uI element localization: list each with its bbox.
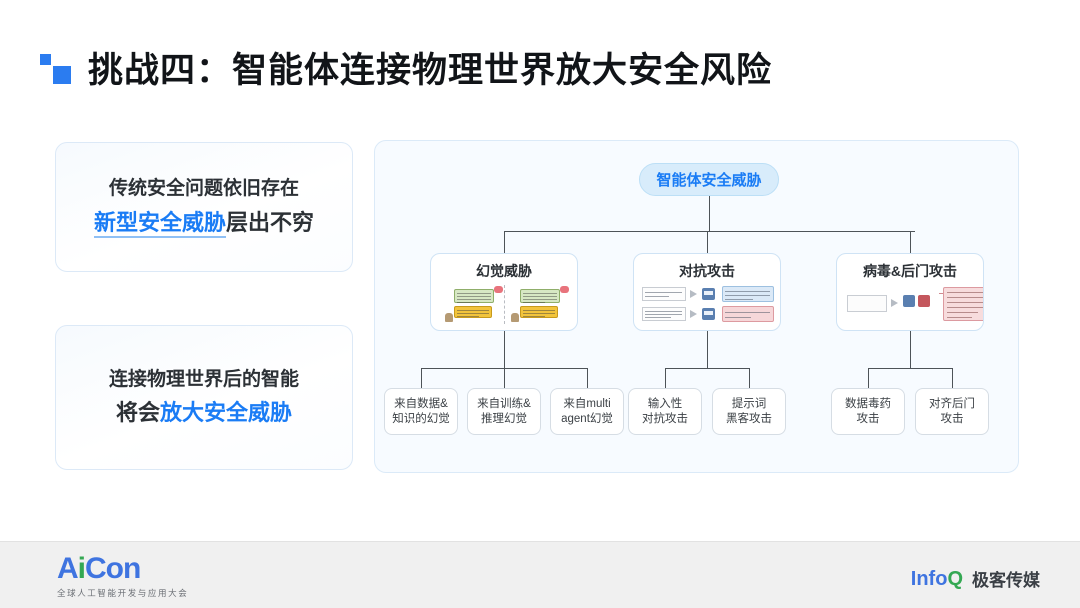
slide-root: 挑战四：智能体连接物理世界放大安全风险 传统安全问题依旧存在 新型安全威胁层出不… — [0, 0, 1080, 608]
leaf-node-data-poisoning-attack[interactable]: 数据毒药 攻击 — [831, 388, 905, 435]
connector-b1-leaf-3 — [587, 368, 588, 388]
leaf-line-2: 知识的幻觉 — [392, 412, 450, 427]
connector-b1-leaf-2 — [504, 368, 505, 388]
aicon-subtitle: 全球人工智能开发与应用大会 — [57, 587, 188, 599]
connector-branch-bus — [504, 231, 915, 232]
statement-card-1-highlight: 新型安全威胁 — [94, 210, 226, 238]
statement-card-2-highlight: 放大安全威胁 — [160, 400, 292, 425]
agent-robot-icon — [702, 288, 715, 300]
leaf-line-2: 攻击 — [857, 412, 880, 427]
threat-tree-diagram: 智能体安全威胁 幻觉威胁 — [374, 140, 1019, 473]
connector-b2-drop — [707, 331, 708, 368]
aicon-wordmark: AiCon — [57, 554, 188, 584]
leaf-line-2: agent幻觉 — [561, 412, 613, 427]
leaf-node-data-knowledge-hallucination[interactable]: 来自数据& 知识的幻觉 — [384, 388, 458, 435]
connector-root-drop — [709, 196, 710, 231]
backdoor-code-injection-thumbnail — [843, 285, 977, 325]
branch-card-virus-backdoor-title: 病毒&后门攻击 — [837, 261, 983, 281]
compromised-agent-icon — [918, 295, 930, 307]
connector-b3-bus — [868, 368, 952, 369]
connector-branch-2-drop — [707, 231, 708, 253]
statement-card-1: 传统安全问题依旧存在 新型安全威胁层出不穷 — [55, 142, 353, 272]
leaf-line-1: 输入性 — [648, 397, 683, 412]
branch-card-hallucination[interactable]: 幻觉威胁 — [430, 253, 578, 331]
slide-header: 挑战四：智能体连接物理世界放大安全风险 — [38, 42, 772, 93]
statement-card-2-line-1: 连接物理世界后的智能 — [109, 366, 299, 394]
branch-card-adversarial[interactable]: 对抗攻击 — [633, 253, 781, 331]
branch-card-hallucination-title: 幻觉威胁 — [431, 261, 577, 281]
prompt-box-icon — [847, 295, 887, 312]
connector-b2-leaf-2 — [749, 368, 750, 388]
response-box-error-icon — [722, 306, 774, 322]
diagram-root-node: 智能体安全威胁 — [639, 163, 779, 196]
leaf-node-input-adversarial-attack[interactable]: 输入性 对抗攻击 — [628, 388, 702, 435]
infoq-wordmark: InfoQ — [911, 569, 963, 589]
infoq-chinese-name: 极客传媒 — [972, 566, 1040, 591]
infoq-logo: InfoQ 极客传媒 — [911, 566, 1040, 591]
agent-pair-icon — [903, 294, 939, 312]
thumbnail-flow-row — [640, 306, 774, 323]
branch-card-virus-backdoor[interactable]: 病毒&后门攻击 — [836, 253, 984, 331]
alert-badge-icon — [494, 286, 503, 293]
leaf-line-1: 来自multi — [563, 397, 610, 412]
prompt-agent-response-thumbnail — [640, 285, 774, 325]
speech-bubble-green-icon — [454, 289, 494, 303]
statement-card-2-line-2: 将会放大安全威胁 — [116, 397, 292, 429]
connector-b3-drop — [910, 331, 911, 368]
aicon-letters-con: Con — [85, 552, 140, 585]
leaf-line-2: 攻击 — [941, 412, 964, 427]
leaf-node-training-inference-hallucination[interactable]: 来自训练& 推理幻觉 — [467, 388, 541, 435]
speech-bubble-green-icon — [520, 289, 560, 303]
aicon-letter-a: A — [57, 552, 78, 585]
leaf-line-1: 数据毒药 — [845, 397, 891, 412]
connector-branch-1-drop — [504, 231, 505, 253]
statement-card-1-line-2: 新型安全威胁层出不穷 — [94, 207, 314, 239]
user-avatar-icon — [445, 313, 453, 322]
statement-card-2-prefix: 将会 — [116, 400, 160, 425]
leaf-node-multi-agent-hallucination[interactable]: 来自multi agent幻觉 — [550, 388, 624, 435]
response-box-code-icon — [722, 286, 774, 302]
aicon-logo: AiCon 全球人工智能开发与应用大会 — [57, 554, 188, 599]
leaf-line-2: 推理幻觉 — [481, 412, 527, 427]
agent-robot-icon — [702, 308, 715, 320]
leaf-line-1: 提示词 — [732, 397, 767, 412]
connector-b2-bus — [665, 368, 749, 369]
connector-b1-drop — [504, 331, 505, 368]
two-blue-squares-icon — [38, 48, 74, 88]
thumbnail-chat-group-left — [445, 286, 505, 324]
connector-b3-leaf-2 — [952, 368, 953, 388]
slide-footer: AiCon 全球人工智能开发与应用大会 InfoQ 极客传媒 — [0, 541, 1080, 608]
leaf-line-1: 对齐后门 — [929, 397, 975, 412]
connector-branch-3-drop — [910, 231, 911, 253]
leaf-line-1: 来自数据& — [394, 397, 448, 412]
infoq-info: Info — [911, 568, 948, 590]
agent-robot-icon — [903, 295, 915, 307]
arrow-right-icon — [690, 290, 697, 298]
thumbnail-flow-row — [640, 286, 774, 303]
statement-card-2: 连接物理世界后的智能 将会放大安全威胁 — [55, 325, 353, 470]
speech-bubble-yellow-icon — [520, 306, 558, 318]
statement-card-1-line-1: 传统安全问题依旧存在 — [109, 175, 299, 203]
leaf-node-alignment-backdoor-attack[interactable]: 对齐后门 攻击 — [915, 388, 989, 435]
aicon-letter-i: i — [78, 552, 85, 585]
leaf-line-1: 来自训练& — [477, 397, 531, 412]
connector-b3-leaf-1 — [868, 368, 869, 388]
prompt-box-icon — [642, 307, 686, 321]
arrow-right-icon — [690, 310, 697, 318]
malicious-code-block-icon — [943, 287, 984, 321]
branch-card-adversarial-title: 对抗攻击 — [634, 261, 780, 281]
alert-badge-icon — [560, 286, 569, 293]
connector-b2-leaf-1 — [665, 368, 666, 388]
thumbnail-chat-group-right — [511, 286, 571, 324]
leaf-node-prompt-hacking-attack[interactable]: 提示词 黑客攻击 — [712, 388, 786, 435]
statement-card-1-rest: 层出不穷 — [226, 210, 314, 235]
user-avatar-icon — [511, 313, 519, 322]
page-title: 挑战四：智能体连接物理世界放大安全风险 — [88, 42, 772, 93]
prompt-box-icon — [642, 287, 686, 301]
leaf-line-2: 黑客攻击 — [726, 412, 772, 427]
square-large-icon — [51, 64, 73, 86]
leaf-line-2: 对抗攻击 — [642, 412, 688, 427]
speech-bubble-yellow-icon — [454, 306, 492, 318]
connector-b1-leaf-1 — [421, 368, 422, 388]
infoq-q: Q — [947, 568, 963, 590]
chat-bubbles-hallucination-thumbnail — [437, 285, 571, 325]
arrow-right-icon — [891, 299, 898, 307]
